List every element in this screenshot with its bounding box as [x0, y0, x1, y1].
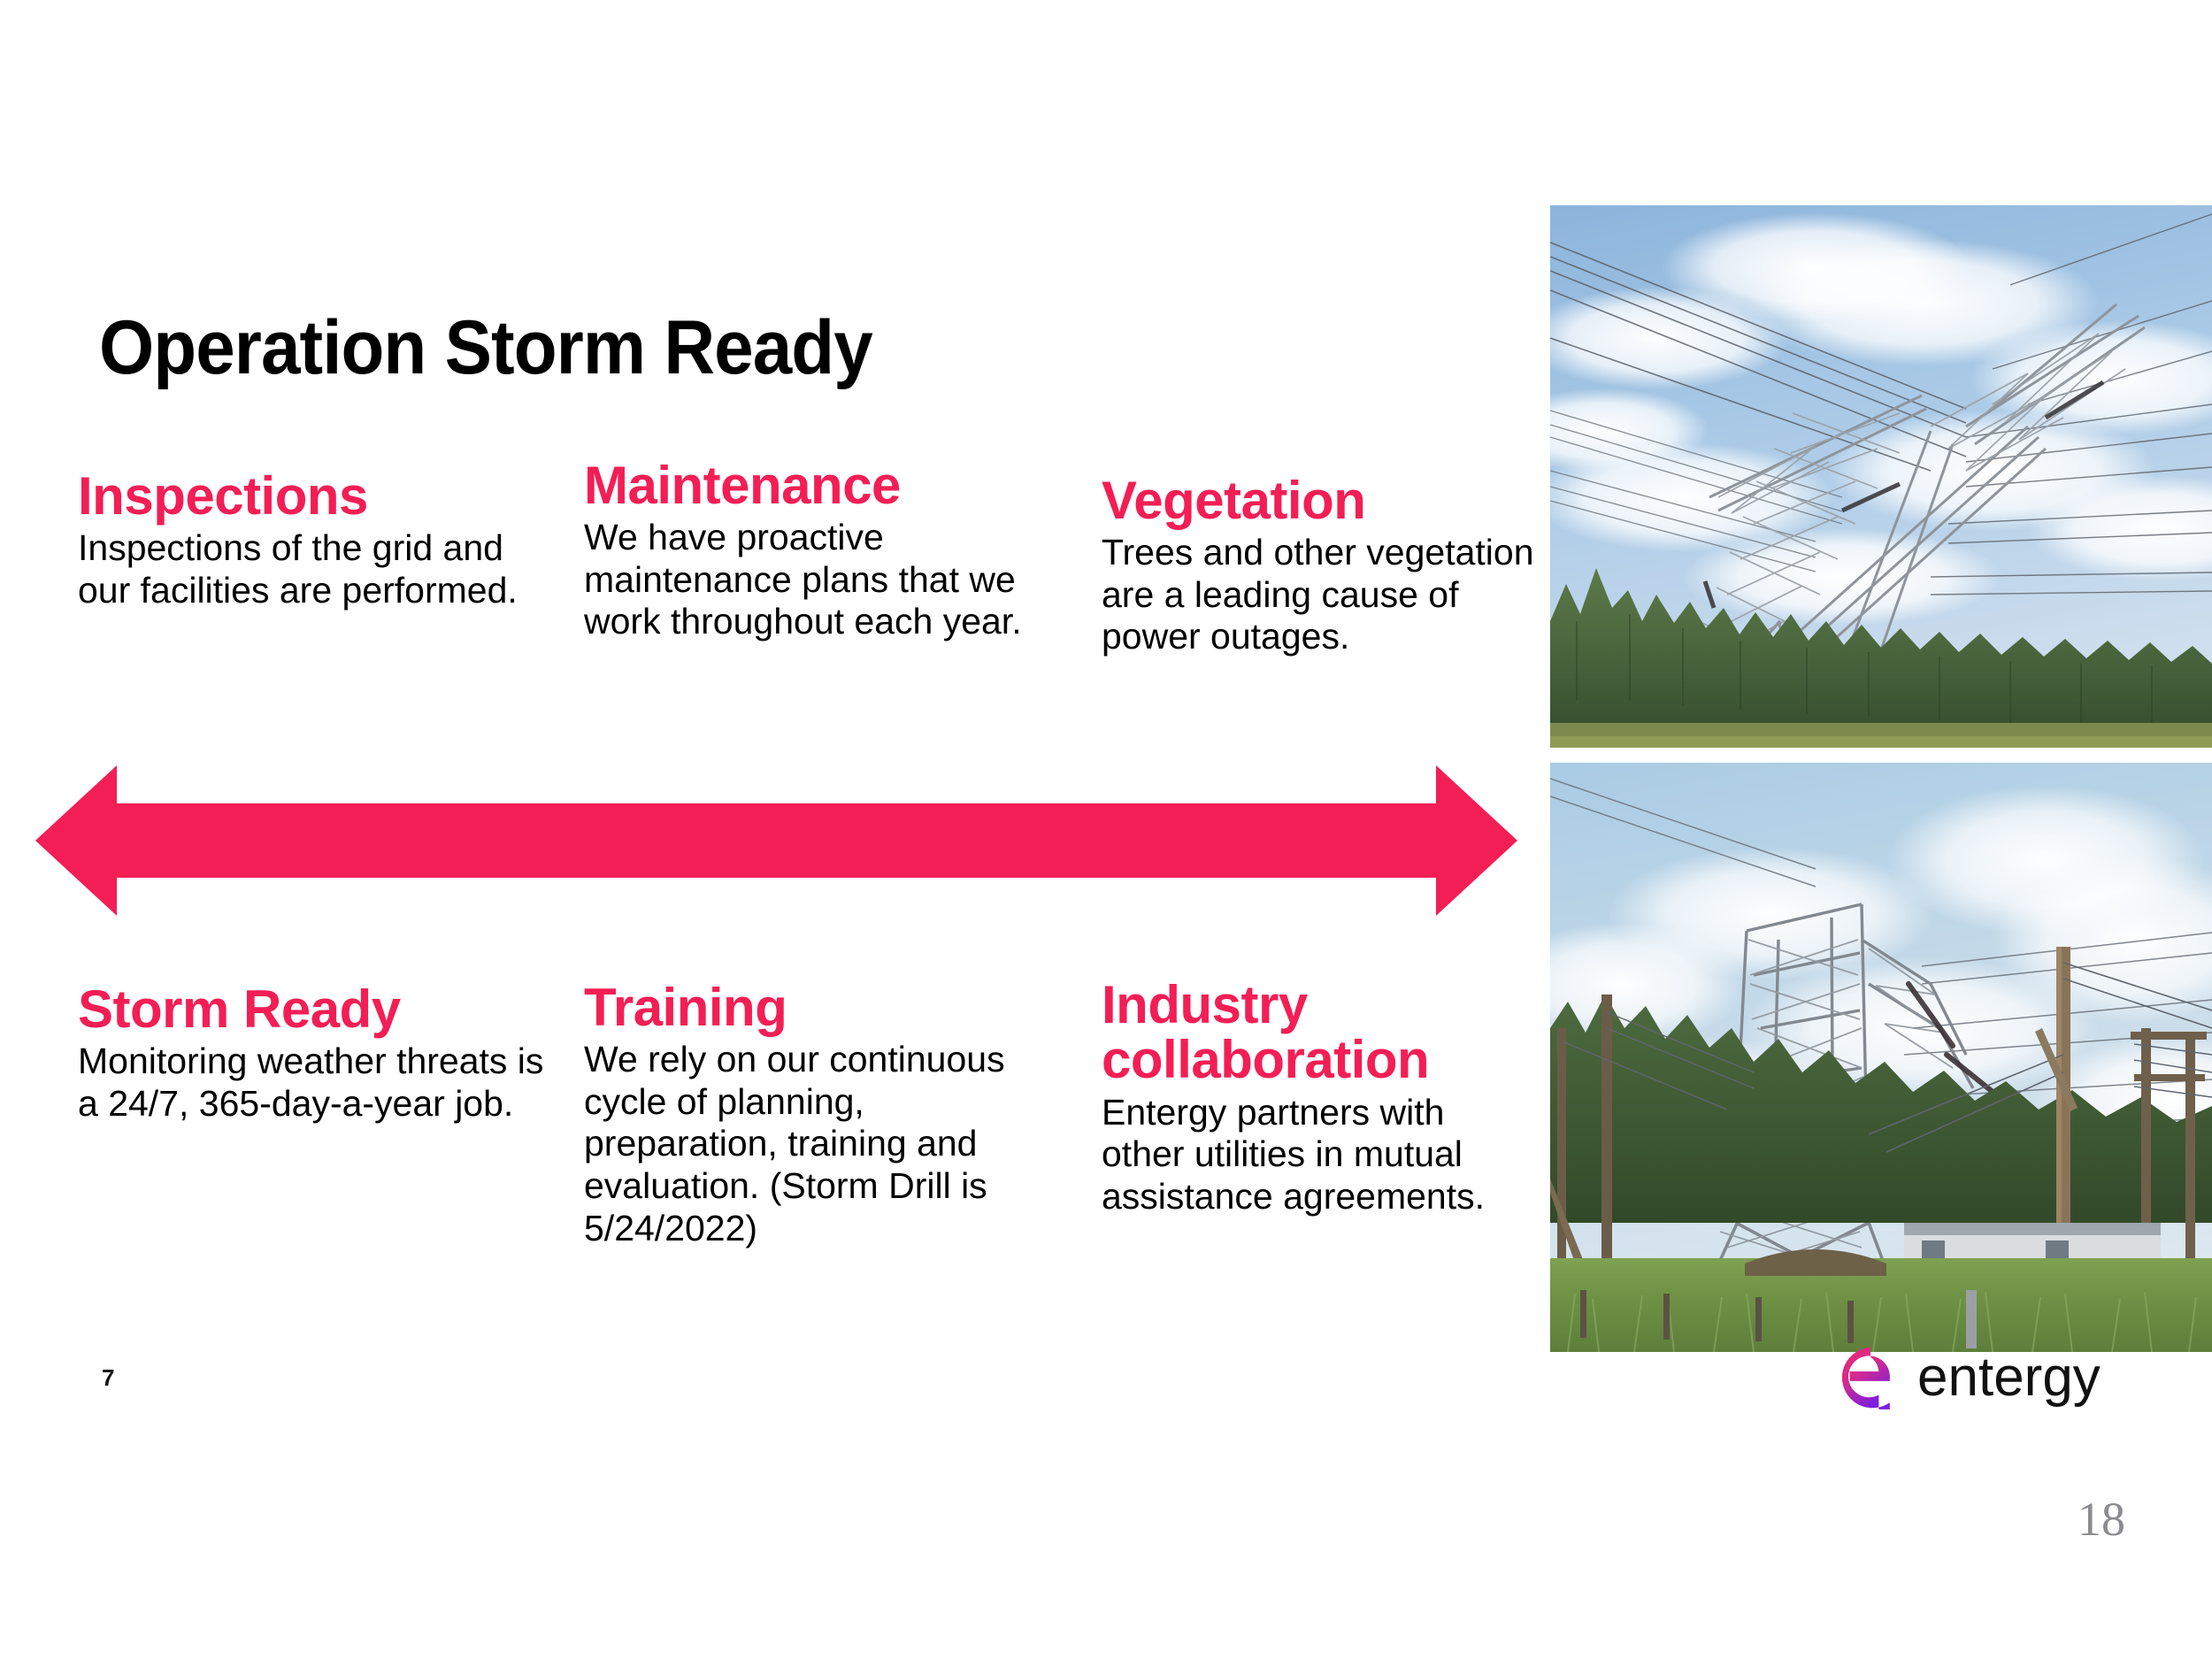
column-body-storm-ready: Monitoring weather threats is a 24/7, 36…: [78, 1041, 547, 1125]
column-heading-maintenance: Maintenance: [584, 458, 1044, 513]
column-body-vegetation: Trees and other vegetation are a leading…: [1102, 532, 1553, 658]
column-heading-vegetation: Vegetation: [1102, 473, 1553, 528]
column-storm-ready: Storm Ready Monitoring weather threats i…: [78, 982, 547, 1125]
slide-number-small: 7: [102, 1364, 114, 1392]
slide-canvas: Operation Storm Ready Inspections Inspec…: [0, 0, 2212, 1659]
column-vegetation: Vegetation Trees and other vegetation ar…: [1102, 473, 1553, 658]
double-headed-arrow-icon: [35, 761, 1517, 920]
column-heading-inspections: Inspections: [78, 469, 520, 524]
entergy-logo: entergy: [1836, 1343, 2110, 1412]
column-body-inspections: Inspections of the grid and our faciliti…: [78, 527, 520, 611]
column-heading-training: Training: [584, 980, 1026, 1035]
column-maintenance: Maintenance We have proactive maintenanc…: [584, 458, 1044, 643]
column-inspections: Inspections Inspections of the grid and …: [78, 469, 520, 611]
column-body-industry-collaboration: Entergy partners with other utilities in…: [1102, 1092, 1517, 1218]
page-number: 18: [2078, 1492, 2125, 1547]
column-industry-collaboration: Industry collaboration Entergy partners …: [1102, 978, 1517, 1217]
arrow-shape: [35, 765, 1517, 916]
column-heading-industry-collaboration: Industry collaboration: [1102, 978, 1517, 1088]
entergy-wordmark: entergy: [1917, 1350, 2101, 1405]
photo-collapsed-transmission-tower: [1550, 205, 2212, 748]
column-training: Training We rely on our continuous cycle…: [584, 980, 1026, 1249]
photo-damaged-tower-and-poles: [1550, 763, 2212, 1352]
page-title: Operation Storm Ready: [99, 304, 872, 392]
entergy-e-mark-icon: [1836, 1343, 1905, 1412]
column-body-training: We rely on our continuous cycle of plann…: [584, 1039, 1026, 1249]
column-heading-storm-ready: Storm Ready: [78, 982, 547, 1037]
column-body-maintenance: We have proactive maintenance plans that…: [584, 517, 1044, 643]
